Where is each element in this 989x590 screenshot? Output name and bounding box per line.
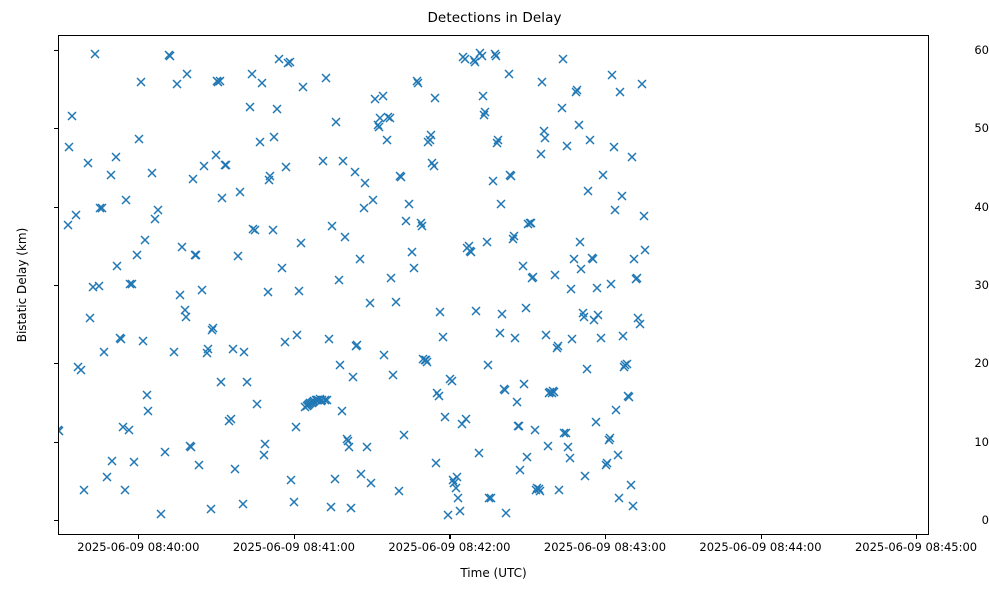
x-tick-mark <box>761 535 762 539</box>
x-tick-mark <box>916 535 917 539</box>
x-axis-ticks: 2025-06-09 08:40:002025-06-09 08:41:0020… <box>0 0 989 590</box>
x-tick-mark <box>294 535 295 539</box>
matplotlib-figure: Detections in Delay 0102030405060 2025-0… <box>0 0 989 590</box>
y-axis-label: Bistatic Delay (km) <box>12 35 32 535</box>
x-tick-mark <box>449 535 450 539</box>
x-tick-mark <box>138 535 139 539</box>
x-tick-label: 2025-06-09 08:45:00 <box>806 540 989 554</box>
x-axis-label: Time (UTC) <box>58 566 929 580</box>
x-tick-mark <box>605 535 606 539</box>
